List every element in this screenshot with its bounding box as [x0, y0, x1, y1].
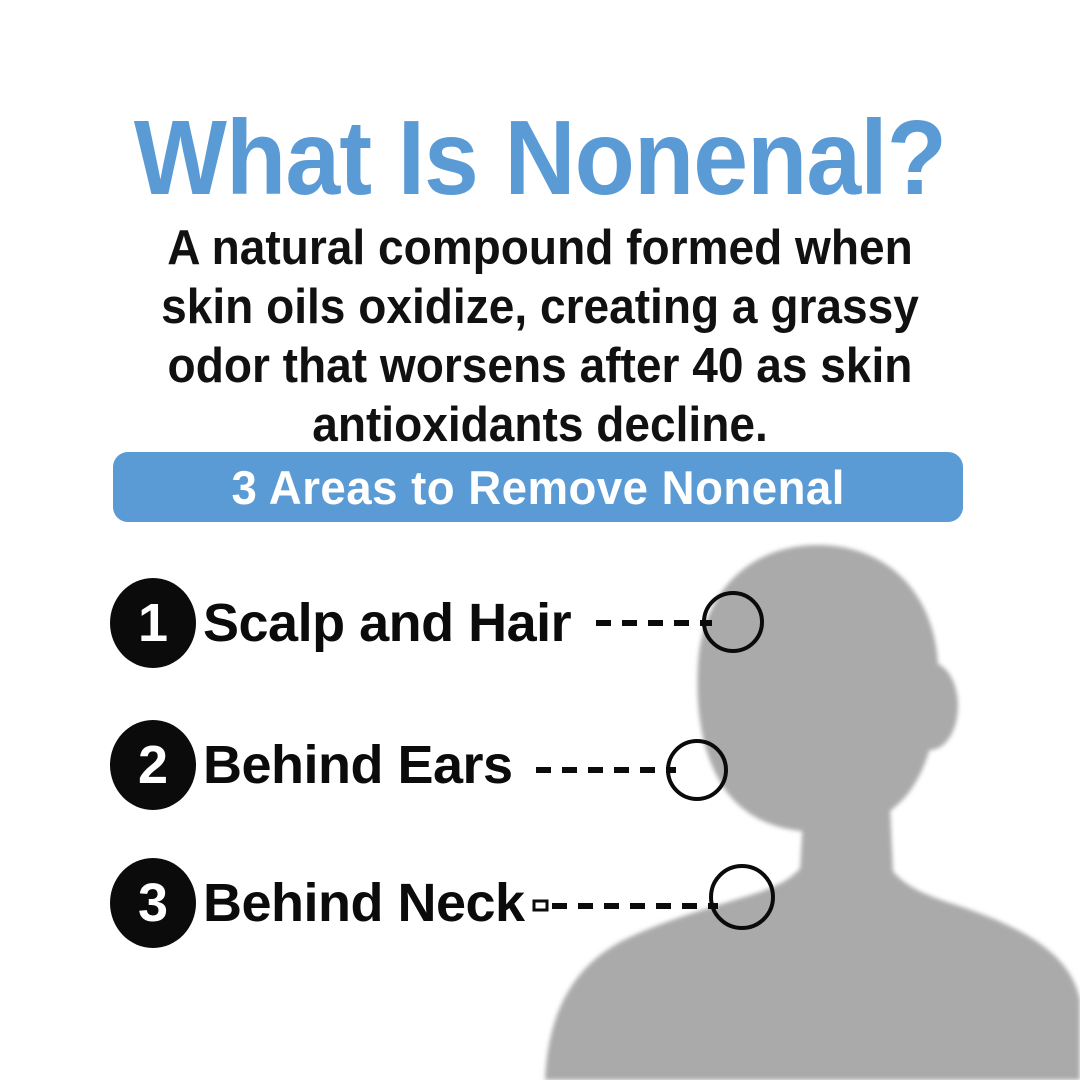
- page-title: What Is Nonenal?: [38, 105, 1042, 211]
- number-badge-1: 1: [110, 578, 196, 668]
- list-item-label-3: Behind Neck: [203, 872, 525, 934]
- list-item-behind-neck[interactable]: 3 Behind Neck: [110, 858, 525, 948]
- list-item-behind-ears[interactable]: 2 Behind Ears: [110, 720, 513, 810]
- description-text: A natural compound formed when skin oils…: [122, 219, 959, 455]
- number-badge-3: 3: [110, 858, 196, 948]
- list-item-scalp-and-hair[interactable]: 1 Scalp and Hair: [110, 578, 571, 668]
- infographic-canvas: What Is Nonenal? A natural compound form…: [0, 0, 1080, 1080]
- list-item-label-1: Scalp and Hair: [203, 592, 571, 654]
- list-item-label-2: Behind Ears: [203, 734, 513, 796]
- section-banner-label: 3 Areas to Remove Nonenal: [231, 460, 844, 515]
- number-badge-2: 2: [110, 720, 196, 810]
- section-banner: 3 Areas to Remove Nonenal: [113, 452, 963, 522]
